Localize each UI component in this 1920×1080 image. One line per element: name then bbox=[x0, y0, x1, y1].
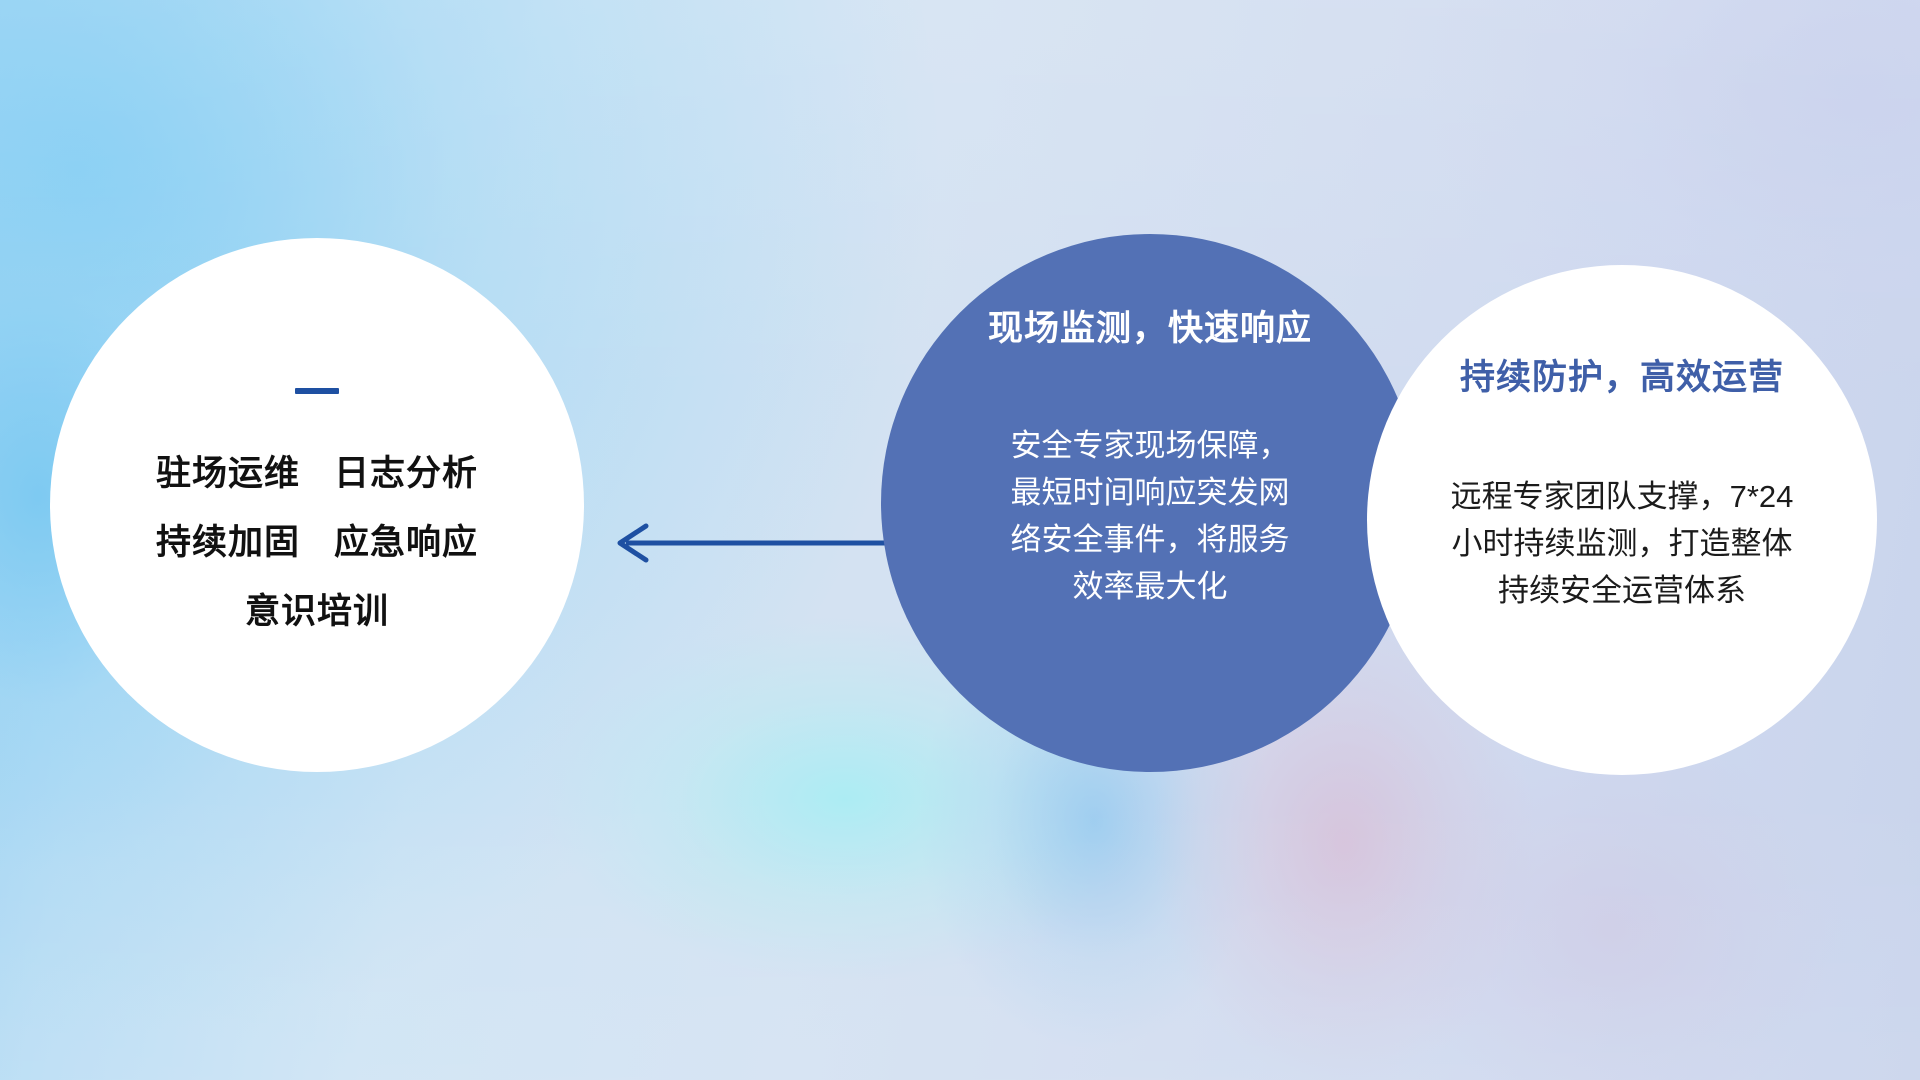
keyword-chip[interactable]: 日志分析 bbox=[334, 456, 478, 491]
continuous-protection-circle[interactable]: 持续防护，高效运营 远程专家团队支撑，7*24小时持续监测，打造整体持续安全运营… bbox=[1367, 265, 1877, 775]
keyword-row: 持续加固 应急响应 bbox=[156, 525, 478, 560]
keyword-chip[interactable]: 驻场运维 bbox=[156, 456, 300, 491]
keyword-chip[interactable]: 应急响应 bbox=[334, 525, 478, 560]
onsite-monitoring-circle[interactable]: 现场监测，快速响应 安全专家现场保障，最短时间响应突发网络安全事件，将服务效率最… bbox=[881, 234, 1419, 772]
onsite-monitoring-content: 现场监测，快速响应 安全专家现场保障，最短时间响应突发网络安全事件，将服务效率最… bbox=[881, 308, 1419, 610]
keyword-chip[interactable]: 意识培训 bbox=[245, 594, 389, 629]
continuous-protection-body: 远程专家团队支撑，7*24小时持续监测，打造整体持续安全运营体系 bbox=[1437, 473, 1807, 614]
keyword-row: 驻场运维 日志分析 bbox=[156, 456, 478, 491]
onsite-monitoring-title: 现场监测，快速响应 bbox=[988, 308, 1312, 350]
keyword-row: 意识培训 bbox=[245, 594, 389, 629]
continuous-protection-content: 持续防护，高效运营 远程专家团队支撑，7*24小时持续监测，打造整体持续安全运营… bbox=[1367, 357, 1877, 614]
keyword-chip[interactable]: 持续加固 bbox=[156, 525, 300, 560]
capabilities-circle[interactable]: 驻场运维 日志分析 持续加固 应急响应 意识培训 bbox=[50, 238, 584, 772]
slide-canvas: 驻场运维 日志分析 持续加固 应急响应 意识培训 现场监测，快速响应 安全专家现… bbox=[0, 0, 1920, 1080]
onsite-monitoring-body: 安全专家现场保障，最短时间响应突发网络安全事件，将服务效率最大化 bbox=[1000, 422, 1300, 610]
continuous-protection-title: 持续防护，高效运营 bbox=[1460, 357, 1784, 399]
accent-dash-divider bbox=[295, 388, 339, 394]
capabilities-content: 驻场运维 日志分析 持续加固 应急响应 意识培训 bbox=[50, 388, 584, 663]
